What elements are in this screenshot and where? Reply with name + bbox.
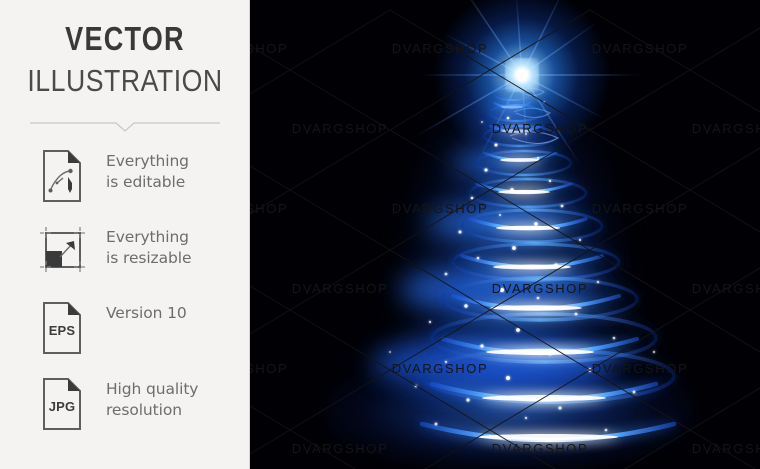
eps-icon-label: EPS [49, 323, 76, 338]
watermark-text: DVARGSHOP [292, 121, 389, 136]
feature-item-resizable: Everything is resizable [0, 221, 250, 297]
feature-item-editable: Everything is editable [0, 145, 250, 221]
watermark-text: DVARGSHOP [492, 441, 589, 456]
jpg-file-icon: JPG [38, 375, 86, 433]
watermark-text: DVARGSHOP [250, 41, 288, 56]
feature-label-resizable: Everything is resizable [106, 227, 246, 269]
eps-file-icon: EPS [38, 299, 86, 357]
watermark-text: DVARGSHOP [392, 41, 489, 56]
jpg-icon-label: JPG [49, 399, 76, 414]
light-tree-illustration: DVARGSHOP DVARGSHOP DVARGSHOP DVARGSHOP … [250, 0, 760, 469]
watermark-text: DVARGSHOP [492, 281, 589, 296]
feature-item-eps: EPS Version 10 [0, 297, 250, 373]
info-panel: VECTOR ILLUSTRATION [0, 0, 250, 469]
watermark-text: DVARGSHOP [292, 281, 389, 296]
watermark-text: DVARGSHOP [250, 361, 288, 376]
watermark-text: DVARGSHOP [492, 121, 589, 136]
watermark-overlay: DVARGSHOP DVARGSHOP DVARGSHOP DVARGSHOP … [250, 0, 760, 469]
watermark-text: DVARGSHOP [592, 361, 689, 376]
artwork-area: DVARGSHOP DVARGSHOP DVARGSHOP DVARGSHOP … [250, 0, 760, 469]
watermark-text: DVARGSHOP [250, 201, 288, 216]
watermark-text: DVARGSHOP [692, 441, 760, 456]
page-title: VECTOR [23, 20, 228, 58]
watermark-text: DVARGSHOP [592, 201, 689, 216]
watermark-text: DVARGSHOP [392, 361, 489, 376]
title-block: VECTOR ILLUSTRATION [0, 20, 250, 100]
feature-list: Everything is editable [0, 145, 250, 449]
resize-arrow-icon [38, 223, 86, 281]
title-divider [30, 118, 220, 134]
watermark-text: DVARGSHOP [292, 441, 389, 456]
watermark-text: DVARGSHOP [692, 281, 760, 296]
page-subtitle: ILLUSTRATION [18, 62, 233, 100]
watermark-text: DVARGSHOP [592, 41, 689, 56]
watermark-text: DVARGSHOP [692, 121, 760, 136]
feature-label-editable: Everything is editable [106, 151, 246, 193]
feature-label-jpg: High quality resolution [106, 379, 246, 421]
feature-item-jpg: JPG High quality resolution [0, 373, 250, 449]
illustration-preview-stage: VECTOR ILLUSTRATION [0, 0, 760, 469]
divider-icon [30, 118, 220, 134]
document-pen-icon [38, 147, 86, 205]
feature-label-eps: Version 10 [106, 303, 246, 324]
watermark-text: DVARGSHOP [392, 201, 489, 216]
